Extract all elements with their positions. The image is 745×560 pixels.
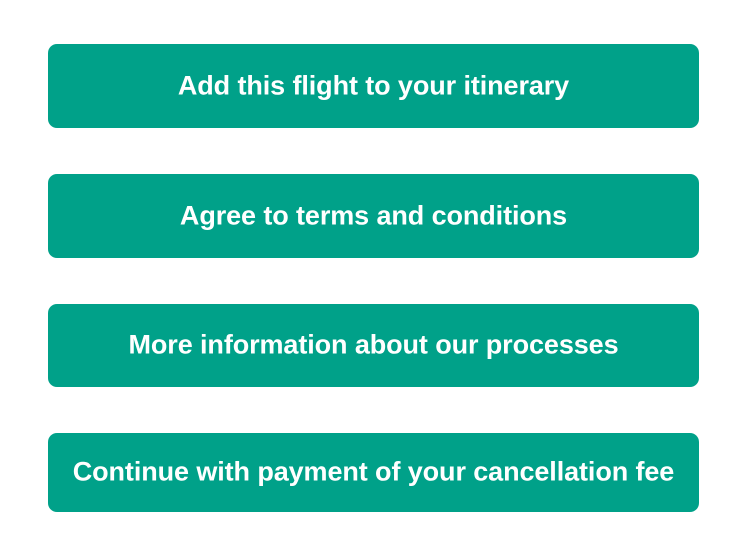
agree-terms-button[interactable]: Agree to terms and conditions bbox=[48, 174, 699, 258]
add-flight-button[interactable]: Add this flight to your itinerary bbox=[48, 44, 699, 128]
continue-payment-button[interactable]: Continue with payment of your cancellati… bbox=[48, 433, 699, 512]
agree-terms-button-label: Agree to terms and conditions bbox=[180, 202, 567, 229]
button-stack: Add this flight to your itinerary Agree … bbox=[0, 0, 745, 560]
continue-payment-button-label: Continue with payment of your cancellati… bbox=[73, 459, 674, 486]
more-information-button-label: More information about our processes bbox=[129, 332, 619, 359]
add-flight-button-label: Add this flight to your itinerary bbox=[178, 72, 569, 99]
more-information-button[interactable]: More information about our processes bbox=[48, 304, 699, 387]
